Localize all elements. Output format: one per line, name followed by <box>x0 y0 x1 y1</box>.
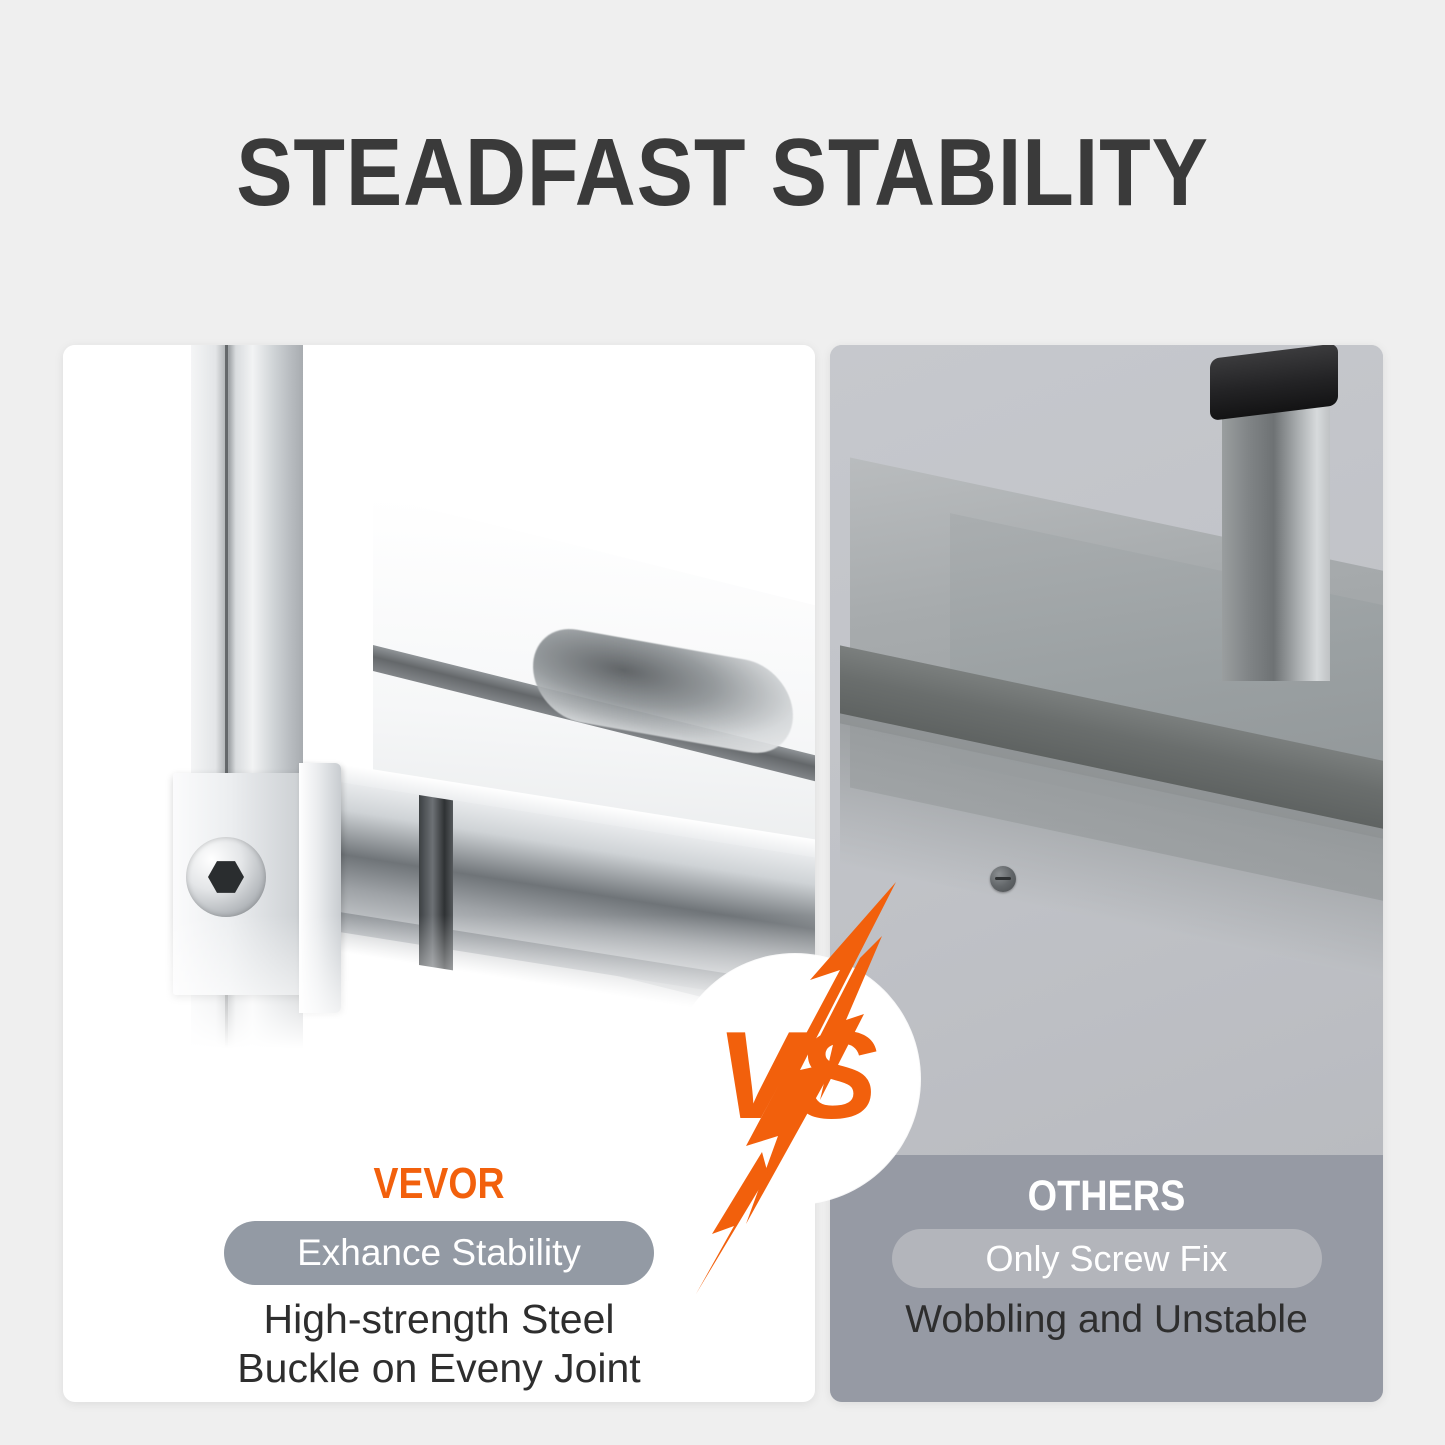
others-pill-badge: Only Screw Fix <box>892 1229 1322 1288</box>
vevor-description-line1: High-strength Steel <box>63 1295 815 1344</box>
vevor-pill-badge: Exhance Stability <box>224 1221 654 1285</box>
vevor-brand-label: VEVOR <box>119 1159 758 1209</box>
hex-bolt-icon <box>186 837 266 917</box>
screw-icon <box>990 866 1016 892</box>
vs-badge: VS <box>670 954 920 1204</box>
vevor-panel: VEVOR Exhance Stability High-strength St… <box>63 345 815 1402</box>
others-description: Wobbling and Unstable <box>830 1296 1383 1344</box>
others-title-label: OTHERS <box>863 1171 1350 1221</box>
comparison-stage: VEVOR Exhance Stability High-strength St… <box>63 345 1383 1402</box>
others-panel: OTHERS Only Screw Fix Wobbling and Unsta… <box>830 345 1383 1402</box>
vevor-description-line2: Buckle on Eveny Joint <box>63 1344 815 1393</box>
vs-badge-label: VS <box>670 954 920 1204</box>
post-shape <box>1222 381 1330 681</box>
page-title: STEADFAST STABILITY <box>87 118 1359 228</box>
